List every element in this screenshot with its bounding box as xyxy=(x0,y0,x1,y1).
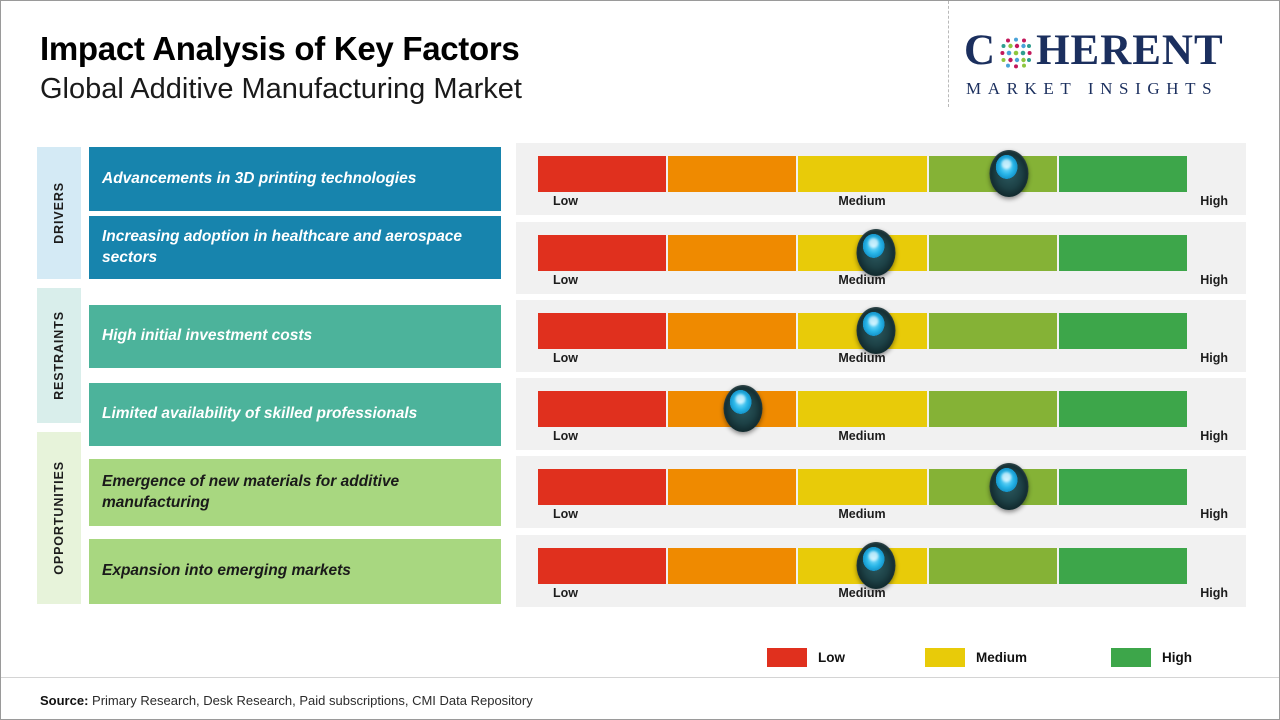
title-block: Impact Analysis of Key Factors Global Ad… xyxy=(40,31,522,106)
scale-label-low: Low xyxy=(553,273,578,287)
factor-label: Limited availability of skilled professi… xyxy=(102,404,417,425)
gauge-row-4: Low Medium High xyxy=(516,378,1246,450)
gauge-row-1: Low Medium High xyxy=(516,143,1246,215)
segment-low xyxy=(538,548,666,584)
segment-low xyxy=(538,313,666,349)
legend-label-low: Low xyxy=(818,650,845,665)
segment-medium-high xyxy=(929,313,1057,349)
factor-label: Advancements in 3D printing technologies xyxy=(102,169,416,190)
segment-low-medium xyxy=(668,469,796,505)
legend-swatch-low xyxy=(767,648,807,667)
scale-label-medium: Medium xyxy=(838,273,885,287)
header-divider xyxy=(948,1,949,107)
footer-divider xyxy=(1,677,1280,678)
scale-label-low: Low xyxy=(553,351,578,365)
scale-labels: Low Medium High xyxy=(538,351,1228,369)
impact-marker[interactable] xyxy=(857,307,896,354)
scale-labels: Low Medium High xyxy=(538,586,1228,604)
scale-label-high: High xyxy=(1200,194,1228,208)
category-label-drivers: DRIVERS xyxy=(52,182,66,244)
legend: Low Medium High xyxy=(767,646,1197,668)
segment-low-medium xyxy=(668,156,796,192)
segment-high xyxy=(1059,391,1187,427)
scale-labels: Low Medium High xyxy=(538,507,1228,525)
category-label-restraints: RESTRAINTS xyxy=(52,311,66,400)
gauge-row-3: Low Medium High xyxy=(516,300,1246,372)
impact-marker[interactable] xyxy=(857,229,896,276)
segment-medium-high xyxy=(929,548,1057,584)
scale-label-medium: Medium xyxy=(838,429,885,443)
factor-box-4[interactable]: Limited availability of skilled professi… xyxy=(89,383,501,446)
source-note: Source: Primary Research, Desk Research,… xyxy=(40,693,533,708)
segment-high xyxy=(1059,156,1187,192)
factor-label: High initial investment costs xyxy=(102,326,312,347)
segment-medium-high xyxy=(929,391,1057,427)
logo-wordmark: C xyxy=(964,29,1224,72)
segment-medium-high xyxy=(929,235,1057,271)
page-subtitle: Global Additive Manufacturing Market xyxy=(40,72,522,106)
impact-marker[interactable] xyxy=(724,385,763,432)
segment-low-medium xyxy=(668,548,796,584)
gauge-row-6: Low Medium High xyxy=(516,535,1246,607)
scale-labels: Low Medium High xyxy=(538,429,1228,447)
source-label: Source: xyxy=(40,693,88,708)
category-band-opportunities: OPPORTUNITIES xyxy=(37,432,81,604)
scale-label-high: High xyxy=(1200,586,1228,600)
legend-label-high: High xyxy=(1162,650,1192,665)
impact-marker[interactable] xyxy=(857,542,896,589)
factor-label: Expansion into emerging markets xyxy=(102,561,351,582)
infographic-page: Impact Analysis of Key Factors Global Ad… xyxy=(0,0,1280,720)
scale-labels: Low Medium High xyxy=(538,194,1228,212)
scale-label-high: High xyxy=(1200,273,1228,287)
scale-label-low: Low xyxy=(553,194,578,208)
segment-low-medium xyxy=(668,313,796,349)
page-title: Impact Analysis of Key Factors xyxy=(40,31,522,68)
scale-label-high: High xyxy=(1200,429,1228,443)
segment-high xyxy=(1059,548,1187,584)
impact-marker[interactable] xyxy=(990,463,1029,510)
scale-label-medium: Medium xyxy=(838,586,885,600)
scale-label-medium: Medium xyxy=(838,351,885,365)
legend-item-low: Low xyxy=(767,646,845,668)
impact-scale-bar[interactable] xyxy=(538,391,1187,427)
segment-high xyxy=(1059,313,1187,349)
segment-low xyxy=(538,469,666,505)
gauge-row-5: Low Medium High xyxy=(516,456,1246,528)
factor-box-3[interactable]: High initial investment costs xyxy=(89,305,501,368)
legend-item-medium: Medium xyxy=(925,646,1027,668)
factor-box-1[interactable]: Advancements in 3D printing technologies xyxy=(89,147,501,211)
dot-sphere-icon xyxy=(997,34,1035,72)
company-logo: C xyxy=(964,29,1264,101)
impact-marker[interactable] xyxy=(990,150,1029,197)
scale-label-low: Low xyxy=(553,507,578,521)
factor-label: Emergence of new materials for additive … xyxy=(102,472,488,514)
segment-medium xyxy=(798,391,926,427)
segment-low-medium xyxy=(668,235,796,271)
legend-swatch-medium xyxy=(925,648,965,667)
scale-label-medium: Medium xyxy=(838,507,885,521)
logo-text-herent: HERENT xyxy=(1036,29,1224,72)
segment-high xyxy=(1059,235,1187,271)
scale-label-high: High xyxy=(1200,351,1228,365)
impact-scale-bar[interactable] xyxy=(538,469,1187,505)
category-label-opportunities: OPPORTUNITIES xyxy=(52,461,66,575)
segment-medium xyxy=(798,469,926,505)
scale-labels: Low Medium High xyxy=(538,273,1228,291)
scale-label-medium: Medium xyxy=(838,194,885,208)
logo-letter-c: C xyxy=(964,29,996,72)
segment-low xyxy=(538,235,666,271)
legend-label-medium: Medium xyxy=(976,650,1027,665)
segment-low xyxy=(538,156,666,192)
factor-box-2[interactable]: Increasing adoption in healthcare and ae… xyxy=(89,216,501,279)
segment-low xyxy=(538,391,666,427)
category-band-drivers: DRIVERS xyxy=(37,147,81,279)
factor-label: Increasing adoption in healthcare and ae… xyxy=(102,227,488,269)
factor-box-5[interactable]: Emergence of new materials for additive … xyxy=(89,459,501,526)
factor-box-6[interactable]: Expansion into emerging markets xyxy=(89,539,501,604)
scale-label-low: Low xyxy=(553,429,578,443)
gauge-row-2: Low Medium High xyxy=(516,222,1246,294)
logo-tagline: MARKET INSIGHTS xyxy=(966,79,1218,99)
category-band-restraints: RESTRAINTS xyxy=(37,288,81,423)
source-text: Primary Research, Desk Research, Paid su… xyxy=(88,693,532,708)
segment-high xyxy=(1059,469,1187,505)
impact-scale-bar[interactable] xyxy=(538,156,1187,192)
header: Impact Analysis of Key Factors Global Ad… xyxy=(1,1,1280,133)
segment-medium xyxy=(798,156,926,192)
scale-label-high: High xyxy=(1200,507,1228,521)
legend-item-high: High xyxy=(1111,646,1192,668)
legend-swatch-high xyxy=(1111,648,1151,667)
scale-label-low: Low xyxy=(553,586,578,600)
